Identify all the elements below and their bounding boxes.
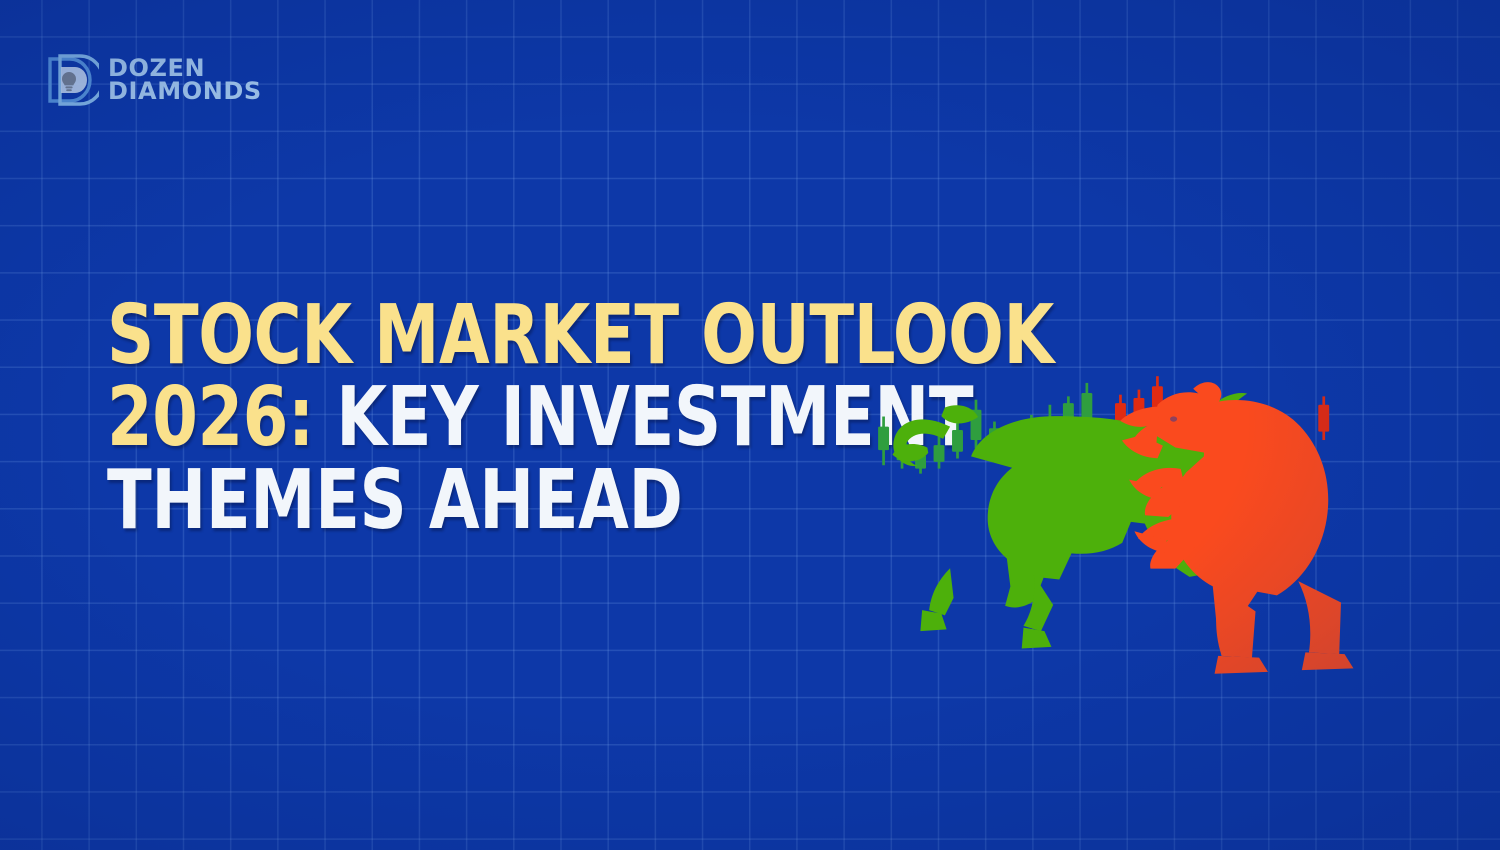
headline-line-3: THEMES AHEAD [107,461,683,541]
brand-logo[interactable]: DOZEN DIAMONDS [47,53,262,107]
bull-bear-illustration [855,225,1375,645]
candle-body [952,430,963,452]
brand-name-line2: DIAMONDS [108,80,262,103]
headline-line-1: STOCK MARKET OUTLOOK [107,296,683,376]
banner-canvas: DOZEN DIAMONDS STOCK MARKET OUTLOOK 2026… [0,0,1500,850]
candle-body [878,427,889,451]
diamond-in-d-icon [47,53,99,107]
headline-year: 2026: [107,370,314,465]
candle-body [1318,405,1329,432]
headline-line-2: 2026: KEY INVESTMENT [107,378,683,458]
brand-wordmark: DOZEN DIAMONDS [108,57,262,102]
headline-block: STOCK MARKET OUTLOOK 2026: KEY INVESTMEN… [107,296,827,543]
candle-body [934,445,945,462]
